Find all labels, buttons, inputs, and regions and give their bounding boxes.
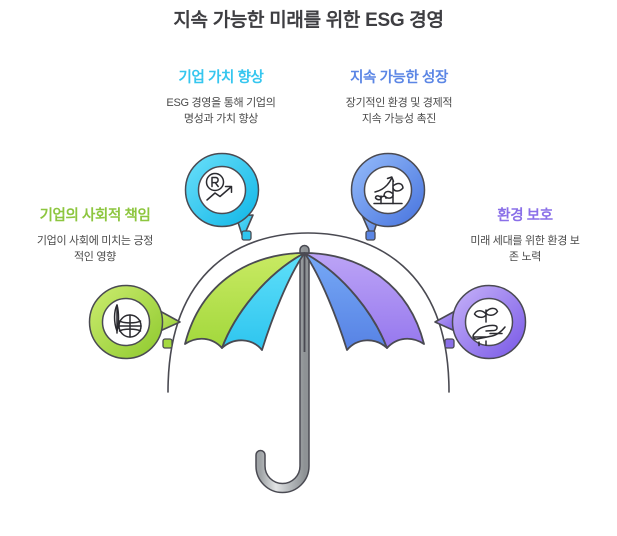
icon-badge-social[interactable] <box>90 286 181 359</box>
panel-blue <box>305 253 388 350</box>
icon-badge-growth[interactable] <box>352 154 425 239</box>
umbrella-pole <box>261 250 305 488</box>
umbrella-graphic <box>185 250 424 488</box>
label-desc-line: 미래 세대를 위한 환경 보 <box>435 233 615 249</box>
label-desc-line: 명성과 가치 향상 <box>133 111 309 127</box>
label-title-social: 기업의 사회적 책임 <box>2 206 188 226</box>
label-title-environment: 환경 보호 <box>435 206 615 226</box>
panel-green <box>185 253 305 348</box>
node-social <box>163 339 172 348</box>
connector-arc <box>168 233 449 392</box>
page-title: 지속 가능한 미래를 위한 ESG 경영 <box>0 8 617 34</box>
node-environment <box>445 339 454 348</box>
label-title-growth: 지속 가능한 성장 <box>311 68 487 88</box>
umbrella-canopy <box>185 253 424 352</box>
label-desc-environment: 미래 세대를 위한 환경 보 존 노력 <box>435 233 615 265</box>
label-desc-line: 장기적인 환경 및 경제적 <box>311 95 487 111</box>
infographic-canvas: 지속 가능한 미래를 위한 ESG 경영 <box>0 0 617 536</box>
label-desc-line: 적인 영향 <box>2 249 188 265</box>
label-title-value: 기업 가치 향상 <box>133 68 309 88</box>
panel-purple <box>305 253 425 348</box>
label-block-value: 기업 가치 향상 ESG 경영을 통해 기업의 명성과 가치 향상 <box>133 68 309 127</box>
icon-badge-value[interactable] <box>186 154 259 239</box>
label-desc-line: ESG 경영을 통해 기업의 <box>133 95 309 111</box>
label-desc-social: 기업이 사회에 미치는 긍정 적인 영향 <box>2 233 188 265</box>
label-desc-line: 존 노력 <box>435 249 615 265</box>
label-desc-growth: 장기적인 환경 및 경제적 지속 가능성 촉진 <box>311 95 487 127</box>
label-desc-line: 기업이 사회에 미치는 긍정 <box>2 233 188 249</box>
label-block-social: 기업의 사회적 책임 기업이 사회에 미치는 긍정 적인 영향 <box>2 206 188 265</box>
connector-nodes <box>163 231 454 348</box>
panel-cyan <box>222 253 305 350</box>
label-desc-value: ESG 경영을 통해 기업의 명성과 가치 향상 <box>133 95 309 127</box>
icon-badge-environment[interactable] <box>435 286 526 359</box>
label-block-growth: 지속 가능한 성장 장기적인 환경 및 경제적 지속 가능성 촉진 <box>311 68 487 127</box>
label-desc-line: 지속 가능성 촉진 <box>311 111 487 127</box>
label-block-environment: 환경 보호 미래 세대를 위한 환경 보 존 노력 <box>435 206 615 265</box>
